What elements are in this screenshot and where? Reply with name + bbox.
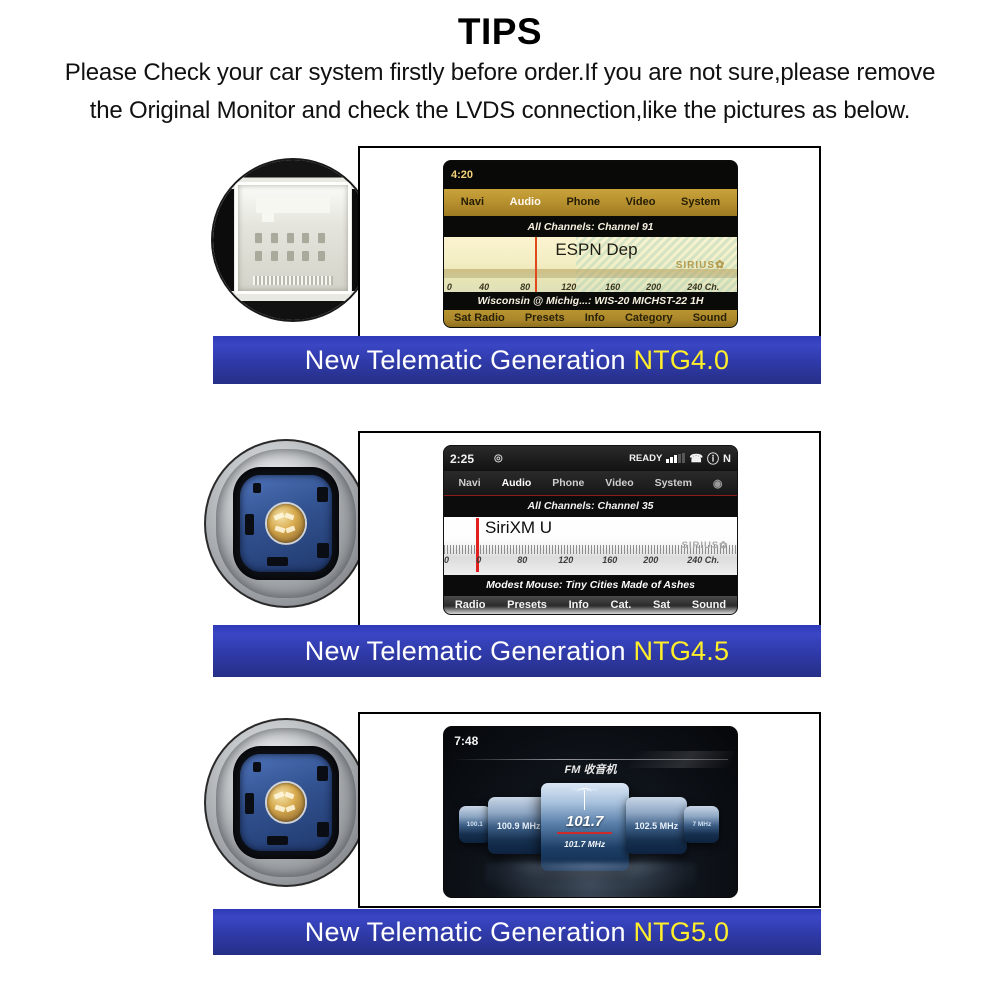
- connector-photo-ntg50: [204, 718, 368, 887]
- menu-item-audio[interactable]: Audio: [510, 196, 541, 208]
- station-name: SiriXM U: [485, 518, 552, 538]
- caption-bar-ntg40: New Telematic Generation NTG4.0: [213, 336, 821, 384]
- menu-item-video[interactable]: Video: [605, 477, 633, 489]
- tick-160: 160: [602, 555, 617, 565]
- clock: 2:25: [450, 452, 474, 466]
- selection-underline: [557, 832, 611, 834]
- connector-cavity: [233, 467, 339, 579]
- globe-icon: ◉: [713, 477, 723, 490]
- tuner-scale-ticks: 0 0 80 120 160 200 240 Ch.: [444, 555, 737, 574]
- freq-tile-far-right[interactable]: 7 MHz: [684, 806, 719, 843]
- tick-0: 0: [447, 282, 452, 292]
- freq-tile-near-right[interactable]: 102.5 MHz: [626, 797, 688, 854]
- phone-handset-icon: ☎: [689, 452, 703, 465]
- tick-200: 200: [646, 282, 661, 292]
- status-indicators: READY ☎ ⓘ N: [629, 450, 731, 467]
- status-bar: 4:20: [444, 161, 737, 189]
- caption-prefix: New Telematic Generation: [305, 345, 634, 375]
- softkey-info[interactable]: Info: [585, 312, 605, 324]
- plug-housing: [235, 182, 350, 294]
- signal-strength-icon: [666, 454, 685, 463]
- tick-200: 200: [643, 555, 658, 565]
- tuner-area: ESPN Dep SIRIUS✿ 0 40 80 120 160 200 240…: [444, 237, 737, 292]
- plug-skirt: [253, 276, 334, 286]
- menu-item-system[interactable]: System: [681, 196, 720, 208]
- head-unit-ntg45: 2:25 ◎ READY ☎ ⓘ N Navi Audio Phone Vide…: [443, 445, 738, 615]
- softkey-category[interactable]: Category: [625, 312, 673, 324]
- caption-model: NTG4.0: [633, 345, 729, 375]
- status-bar: 2:25 ◎ READY ☎ ⓘ N: [444, 446, 737, 471]
- softkey-radio[interactable]: Radio: [455, 599, 486, 611]
- freq-tile-far-left[interactable]: 100.1: [459, 806, 491, 843]
- softkey-presets[interactable]: Presets: [507, 599, 547, 611]
- plug-side-left: [213, 189, 234, 291]
- soft-key-bar: Sat Radio Presets Info Category Sound: [444, 310, 737, 327]
- tips-line-2: the Original Monitor and check the LVDS …: [0, 92, 1000, 130]
- caption-model: NTG5.0: [633, 917, 729, 947]
- menu-item-phone[interactable]: Phone: [552, 477, 584, 489]
- channel-header: All Channels: Channel 35: [444, 496, 737, 516]
- head-unit-ntg50: 7:48 FM 收音机 100.1 100.9 MHz 100.1 MHz 10…: [443, 726, 738, 898]
- softkey-presets[interactable]: Presets: [525, 312, 565, 324]
- clock: 4:20: [451, 169, 473, 181]
- selected-frequency-unit: 101.7 MHz: [564, 839, 605, 849]
- floor-reflection: [485, 863, 696, 890]
- plug-latch: [256, 196, 330, 213]
- sirius-logo: SIRIUS✿: [682, 540, 729, 551]
- connector-gold-pin: [267, 783, 305, 821]
- menu-item-system[interactable]: System: [655, 477, 692, 489]
- now-playing-text: Modest Mouse: Tiny Cities Made of Ashes: [444, 575, 737, 595]
- screen-frame-ntg40: 4:20 Navi Audio Phone Video System All C…: [358, 146, 821, 342]
- tick-240: 240 Ch.: [687, 282, 719, 292]
- menu-item-phone[interactable]: Phone: [566, 196, 600, 208]
- tick-0: 0: [476, 555, 481, 565]
- soft-key-bar: Radio Presets Info Cat. Sat Sound: [444, 596, 737, 614]
- tick-160: 160: [605, 282, 620, 292]
- channel-header: All Channels: Channel 91: [444, 216, 737, 238]
- screen-frame-ntg45: 2:25 ◎ READY ☎ ⓘ N Navi Audio Phone Vide…: [358, 431, 821, 627]
- gear-position-indicator: N: [723, 453, 731, 465]
- menu-bar: Navi Audio Phone Video System ◉: [444, 471, 737, 496]
- softkey-sat[interactable]: Sat: [653, 599, 670, 611]
- page-title: TIPS: [0, 10, 1000, 54]
- tips-header: TIPS Please Check your car system firstl…: [0, 0, 1000, 130]
- antenna-icon: [584, 790, 585, 809]
- caption-prefix: New Telematic Generation: [305, 636, 634, 666]
- menu-bar: Navi Audio Phone Video System: [444, 189, 737, 216]
- menu-item-audio[interactable]: Audio: [502, 477, 532, 489]
- softkey-sound[interactable]: Sound: [692, 599, 726, 611]
- caption-text-ntg50: New Telematic Generation NTG5.0: [305, 917, 729, 948]
- menu-item-navi[interactable]: Navi: [461, 196, 484, 208]
- tick-120: 120: [558, 555, 573, 565]
- caption-model: NTG4.5: [633, 636, 729, 666]
- sirius-logo: SIRIUS✿: [676, 258, 726, 271]
- plug-pin-array: [254, 232, 333, 268]
- connector-photo-ntg45: [204, 439, 368, 608]
- caption-bar-ntg45: New Telematic Generation NTG4.5: [213, 625, 821, 677]
- selected-frequency: 101.7: [566, 813, 604, 830]
- station-name: ESPN Dep: [555, 240, 637, 260]
- ready-label: READY: [629, 453, 662, 464]
- caption-text-ntg45: New Telematic Generation NTG4.5: [305, 636, 729, 667]
- caption-prefix: New Telematic Generation: [305, 917, 634, 947]
- exclamation-circle-icon: ⓘ: [707, 450, 719, 467]
- menu-item-navi[interactable]: Navi: [458, 477, 480, 489]
- mode-title: FM 收音机: [444, 761, 737, 777]
- freq-tile-center[interactable]: 100.1 MHz 101.7 101.7 MHz: [541, 783, 629, 871]
- connector-photo-ntg40: [211, 158, 375, 322]
- head-unit-ntg40: 4:20 Navi Audio Phone Video System All C…: [443, 160, 738, 328]
- softkey-sat-radio[interactable]: Sat Radio: [454, 312, 505, 324]
- now-playing-text: Wisconsin @ Michig...: WIS-20 MICHST-22 …: [444, 292, 737, 309]
- menu-item-video[interactable]: Video: [626, 196, 656, 208]
- tick-80: 80: [520, 282, 530, 292]
- softkey-cat[interactable]: Cat.: [611, 599, 632, 611]
- softkey-sound[interactable]: Sound: [693, 312, 727, 324]
- panel-ntg40: 4:20 Navi Audio Phone Video System All C…: [0, 140, 1000, 390]
- connector-cavity: [233, 746, 339, 858]
- frequency-carousel: 100.1 100.9 MHz 100.1 MHz 101.7 101.7 MH…: [444, 783, 737, 871]
- record-dot-icon: ◎: [494, 453, 503, 464]
- caption-bar-ntg50: New Telematic Generation NTG5.0: [213, 909, 821, 955]
- tick-80: 80: [517, 555, 527, 565]
- tips-line-1: Please Check your car system firstly bef…: [0, 54, 1000, 92]
- tuner-scale-ticks: 0 40 80 120 160 200 240 Ch.: [444, 275, 737, 291]
- tick-40: 40: [479, 282, 489, 292]
- tick-240: 240 Ch.: [687, 555, 719, 565]
- panel-ntg50: 7:48 FM 收音机 100.1 100.9 MHz 100.1 MHz 10…: [0, 706, 1000, 956]
- tuner-area: SiriXM U SIRIUS✿ 0 0 80 120 160 200 240 …: [444, 517, 737, 576]
- connector-gold-pin: [267, 504, 305, 542]
- tick-120: 120: [561, 282, 576, 292]
- caption-text-ntg40: New Telematic Generation NTG4.0: [305, 345, 729, 376]
- screen-frame-ntg50: 7:48 FM 收音机 100.1 100.9 MHz 100.1 MHz 10…: [358, 712, 821, 908]
- tick-edge: 0: [444, 555, 449, 565]
- softkey-info[interactable]: Info: [569, 599, 589, 611]
- clock: 7:48: [454, 734, 478, 748]
- panel-ntg45: 2:25 ◎ READY ☎ ⓘ N Navi Audio Phone Vide…: [0, 425, 1000, 685]
